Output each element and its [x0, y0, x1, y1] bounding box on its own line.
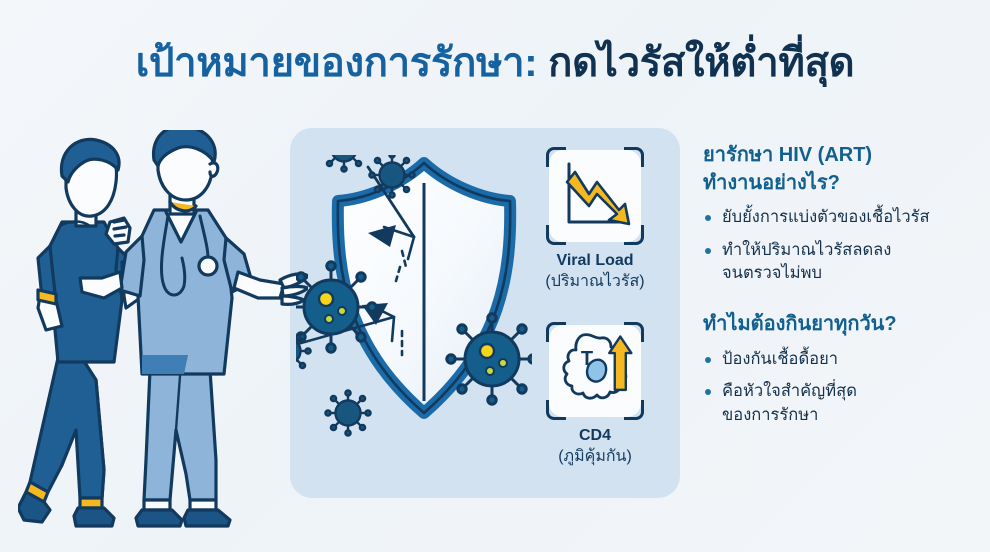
viral-load-card: Viral Load (ปริมาณไวรัส) — [535, 150, 655, 293]
section-heading-line-1: ทำไมต้องกินยาทุกวัน? — [703, 313, 897, 335]
cd4-sublabel: (ภูมิคุ้มกัน) — [535, 447, 655, 468]
section-how-art-works: ยารักษา HIV (ART) ทำงานอย่างไร? ยับยั้งก… — [703, 142, 981, 285]
corner-bracket-top-right-icon — [624, 147, 644, 167]
viral-load-icon-box — [549, 150, 641, 242]
corner-bracket-bottom-left-icon — [546, 225, 566, 245]
section-heading-line-1: ยารักษา HIV (ART) — [703, 144, 872, 166]
page-title: เป้าหมายของการรักษา: กดไวรัสให้ต่ำที่สุด — [0, 38, 990, 88]
shield-blocking-viruses — [296, 155, 532, 445]
section-heading-why-daily-medication: ทำไมต้องกินยาทุกวัน? — [703, 311, 981, 339]
section-heading-line-2: ทำงานอย่างไร? — [703, 172, 840, 194]
section-why-daily-medication: ทำไมต้องกินยาทุกวัน? ป้องกันเชื้อดื้อยา … — [703, 311, 981, 427]
viral-load-label: Viral Load — [535, 251, 655, 272]
virus-particle — [321, 155, 366, 172]
list-item: คือหัวใจสำคัญที่สุดของการรักษา — [703, 380, 981, 427]
bullet-list-how-art-works: ยับยั้งการแบ่งตัวของเชื้อไวรัส ทำให้ปริม… — [703, 206, 981, 285]
corner-bracket-top-left-icon — [546, 147, 566, 167]
corner-bracket-top-right-icon — [624, 322, 644, 342]
list-item: ป้องกันเชื้อดื้อยา — [703, 348, 981, 371]
cd4-label: CD4 — [535, 426, 655, 447]
cd4-card: T CD4 (ภูมิคุ้มกัน) — [535, 325, 655, 468]
right-text-column: ยารักษา HIV (ART) ทำงานอย่างไร? ยับยั้งก… — [703, 142, 981, 436]
list-item: ยับยั้งการแบ่งตัวของเชื้อไวรัส — [703, 206, 981, 229]
corner-bracket-bottom-right-icon — [624, 225, 644, 245]
page-title-part-b: กดไวรัสให้ต่ำที่สุด — [548, 41, 854, 85]
doctor-and-patient-illustration — [18, 130, 308, 530]
page-title-part-a: เป้าหมายของการรักษา: — [136, 41, 538, 85]
corner-bracket-top-left-icon — [546, 322, 566, 342]
virus-particle — [325, 390, 370, 435]
corner-bracket-bottom-right-icon — [624, 400, 644, 420]
cd4-icon-box: T — [549, 325, 641, 417]
section-heading-how-art-works: ยารักษา HIV (ART) ทำงานอย่างไร? — [703, 142, 981, 197]
virus-particle — [296, 262, 376, 352]
corner-bracket-bottom-left-icon — [546, 400, 566, 420]
list-item: ทำให้ปริมาณไวรัสลดลงจนตรวจไม่พบ — [703, 239, 981, 286]
infographic-poster: เป้าหมายของการรักษา: กดไวรัสให้ต่ำที่สุด — [0, 0, 990, 552]
svg-text:T: T — [581, 348, 593, 370]
bullet-list-why-daily-medication: ป้องกันเชื้อดื้อยา คือหัวใจสำคัญที่สุดขอ… — [703, 348, 981, 427]
viral-load-sublabel: (ปริมาณไวรัส) — [535, 272, 655, 293]
